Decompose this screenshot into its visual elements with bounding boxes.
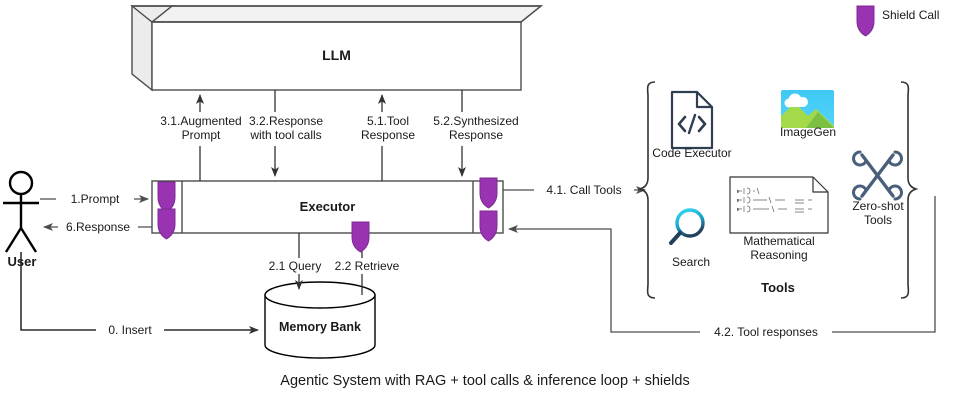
edge-label-call-tools: 4.1. Call Tools [532, 183, 636, 197]
tool-label-search: Search [660, 255, 722, 269]
user-actor [3, 172, 39, 252]
edge-label-prompt: 1.Prompt [54, 192, 136, 206]
tools-group-label: Tools [718, 281, 838, 295]
figure-caption: Agentic System with RAG + tool calls & i… [0, 374, 970, 388]
shield-output-2 [480, 211, 497, 241]
shield-legend-icon [857, 6, 874, 36]
edge-label-response: 6.Response [56, 220, 140, 234]
edge-label-insert: 0. Insert [94, 323, 166, 337]
tool-label-math-reasoning: Mathematical Reasoning [729, 234, 829, 262]
tool-label-imagegen: ImageGen [773, 125, 843, 139]
edge-label-retrieve: 2.2 Retrieve [328, 259, 406, 273]
image-picture-icon [781, 90, 834, 128]
tools-bracket-right [901, 82, 916, 298]
shield-memory [352, 222, 369, 252]
executor-label: Executor [182, 200, 473, 214]
tool-label-zero-shot-tools: Zero-shot Tools [840, 199, 916, 227]
magnifier-icon [671, 210, 703, 243]
code-document-icon [672, 92, 712, 148]
formula-document-icon [730, 177, 828, 233]
legend-label: Shield Call [882, 8, 970, 22]
edge-insert [21, 252, 258, 330]
crossed-wrenches-icon [854, 152, 902, 199]
edge-label-response-tool-calls: 3.2.Response with tool calls [230, 114, 342, 142]
memory-bank-label: Memory Bank [265, 320, 375, 334]
edge-label-tool-responses: 4.2. Tool responses [698, 325, 834, 339]
tool-label-code-executor: Code Executor [648, 146, 736, 160]
edge-label-synthesized-response: 5.2.Synthesized Response [418, 114, 534, 142]
tools-bracket-left [640, 82, 655, 298]
edge-label-query: 2.1 Query [263, 259, 327, 273]
user-label: User [0, 255, 48, 269]
llm-label: LLM [152, 48, 521, 62]
shield-input-2 [158, 209, 175, 239]
